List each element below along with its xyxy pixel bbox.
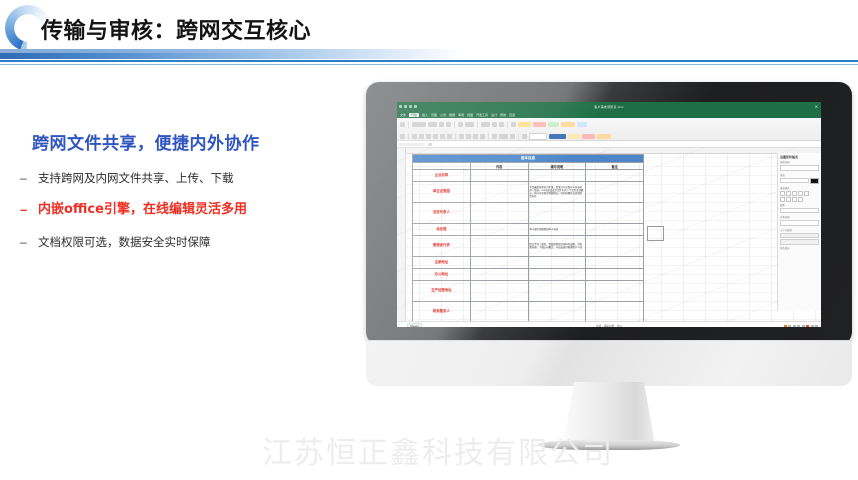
- row-instruction: [528, 257, 586, 269]
- pane-footer-label: 纯色填充: [780, 246, 819, 250]
- row-instruction: [528, 203, 586, 224]
- option-checkbox[interactable]: [798, 191, 803, 196]
- fullscreen-icon[interactable]: [815, 325, 818, 328]
- list-item: – 文档权限可选，数据安全实时保障: [20, 234, 350, 250]
- list-item-label: 支持跨网及内网文件共享、上传、下载: [38, 170, 234, 186]
- row-input[interactable]: [470, 182, 528, 203]
- table-row: 内容 填写说明 备注: [413, 163, 644, 170]
- row-input[interactable]: [470, 203, 528, 224]
- italic-icon[interactable]: [419, 134, 424, 139]
- pane-input[interactable]: [780, 165, 819, 171]
- option-checkbox[interactable]: [786, 191, 791, 196]
- function-icon[interactable]: [428, 143, 432, 146]
- conditional-format-icon[interactable]: [511, 122, 516, 127]
- row-label: 注册地址: [413, 257, 471, 269]
- pane-input[interactable]: [780, 220, 819, 226]
- cell-style-swatch[interactable]: [597, 134, 611, 139]
- row-label: 管理者代表: [413, 236, 471, 257]
- zoom-in-icon[interactable]: [806, 325, 809, 328]
- document-filename: 客户需求调研表.xlsx: [397, 105, 821, 109]
- row-input[interactable]: [470, 170, 528, 182]
- row-input[interactable]: [470, 302, 528, 323]
- cell-style-swatch[interactable]: [533, 122, 546, 127]
- ribbon-tabs: 文件 开始 插入 页面 公式 数据 审阅 视图 开发工具 设计 帮助 百度: [397, 111, 821, 118]
- list-item-label: 文档权限可选，数据安全实时保障: [38, 234, 211, 250]
- pane-section-line[interactable]: 线条: [780, 203, 819, 207]
- option-checkbox[interactable]: [780, 197, 785, 202]
- row-remark: [586, 281, 644, 302]
- pane-section-text[interactable]: 文本选项: [780, 215, 819, 219]
- currency-icon[interactable]: [499, 134, 508, 139]
- row-instruction: 提交不含上要的，需要提供相关材料有效期，对需要办理，下载公司重点，可由安装好管理…: [528, 236, 586, 257]
- pane-section-fill[interactable]: 填充: [780, 173, 819, 177]
- header-divider-line-secondary: [0, 64, 858, 65]
- row-label: 办公地址: [413, 269, 471, 281]
- tab-help[interactable]: 帮助: [500, 113, 506, 117]
- ribbon-toolbar: [397, 118, 821, 141]
- col-remark: 备注: [586, 163, 644, 170]
- divider: [408, 133, 409, 140]
- tab-view[interactable]: 视图: [467, 113, 473, 117]
- row-instruction: [528, 170, 586, 182]
- option-checkbox[interactable]: [804, 191, 809, 196]
- row-input[interactable]: [470, 236, 528, 257]
- company-watermark: 江苏恒正鑫科技有限公司: [262, 428, 614, 472]
- percent-icon[interactable]: [492, 122, 497, 127]
- number-format-box[interactable]: [481, 122, 490, 127]
- format-shape-pane[interactable]: 设置形状格式 形状选项 填充 填充颜色: [777, 153, 821, 311]
- page-title: 传输与审核：跨网交互核心: [41, 13, 311, 45]
- row-label: 企业名称: [413, 170, 471, 182]
- divider: [518, 133, 519, 140]
- wrap-text-icon[interactable]: [458, 122, 463, 127]
- clipboard-icon[interactable]: [400, 134, 405, 139]
- zoom-level-label[interactable]: [811, 325, 814, 328]
- format-table-icon[interactable]: [522, 134, 527, 139]
- spreadsheet-body[interactable]: 基本信息 内容 填写说明 备注 企业名称 单: [397, 148, 821, 321]
- cell-style-swatch[interactable]: [548, 122, 559, 127]
- decrease-font-icon[interactable]: [446, 122, 451, 127]
- pane-section-size[interactable]: 大小与属性: [780, 228, 819, 232]
- row-remark: [586, 224, 644, 236]
- row-remark: [586, 170, 644, 182]
- tab-baidu[interactable]: 百度: [509, 113, 515, 117]
- row-remark: [586, 182, 644, 203]
- orientation-icon[interactable]: [492, 134, 497, 139]
- formula-bar[interactable]: [397, 141, 821, 148]
- divider: [455, 133, 456, 140]
- pane-title: 设置形状格式: [780, 155, 819, 159]
- col-content: 内容: [470, 163, 528, 170]
- status-bar: Sheet1 就绪 辅助功能：良好: [397, 321, 821, 327]
- option-row[interactable]: [780, 197, 819, 202]
- underline-icon[interactable]: [426, 134, 431, 139]
- page-layout-icon[interactable]: [788, 325, 791, 328]
- header-gradient-bar: [0, 49, 462, 59]
- row-remark: [586, 203, 644, 224]
- divider: [477, 121, 478, 128]
- divider: [507, 121, 508, 128]
- option-row[interactable]: [780, 191, 819, 196]
- row-instruction: 本人填写需要提供本人电话: [528, 224, 586, 236]
- comma-icon[interactable]: [499, 122, 504, 127]
- zoom-slider[interactable]: [802, 325, 805, 328]
- bold-icon[interactable]: [412, 134, 417, 139]
- feature-bullet-list: – 支持跨网及内网文件共享、上传、下载 – 内嵌office引擎，在线编辑灵活多…: [20, 170, 350, 266]
- cell-style-swatch[interactable]: [568, 134, 580, 139]
- merge-cells-icon[interactable]: [465, 122, 474, 127]
- row-instruction: [528, 269, 586, 281]
- fill-color-icon[interactable]: [440, 134, 445, 139]
- status-text: 就绪 辅助功能：良好: [397, 324, 821, 327]
- option-checkbox[interactable]: [792, 191, 797, 196]
- tab-file[interactable]: 文件: [400, 113, 406, 117]
- option-checkbox[interactable]: [786, 197, 791, 202]
- paste-icon[interactable]: [400, 122, 405, 127]
- bullet-dash-icon: –: [20, 202, 38, 218]
- list-item: – 支持跨网及内网文件共享、上传、下载: [20, 170, 350, 186]
- option-checkbox[interactable]: [780, 191, 785, 196]
- pane-input[interactable]: [780, 208, 819, 214]
- page-break-icon[interactable]: [793, 325, 796, 328]
- solid-fill-button[interactable]: [780, 239, 819, 245]
- col-empty: [413, 163, 471, 170]
- zoom-out-icon[interactable]: [797, 325, 800, 328]
- desktop-monitor: 客户需求调研表.xlsx ✕ 文件 开始 插入 页面 公式 数据 审阅 视图 开…: [366, 82, 852, 417]
- table-row: 注册地址: [413, 257, 644, 269]
- table-row: 联系服务人: [413, 302, 644, 323]
- tab-data[interactable]: 数据: [449, 113, 455, 117]
- normal-view-icon[interactable]: [784, 325, 787, 328]
- border-icon[interactable]: [433, 134, 438, 139]
- cell-style-swatch[interactable]: [549, 134, 566, 139]
- survey-form-table[interactable]: 基本信息 内容 填写说明 备注 企业名称 单: [412, 154, 644, 327]
- row-input[interactable]: [470, 257, 528, 269]
- row-instruction: 不是最新版本的可不填，需要什么证照什么内容的用一级章，xxx全部由此次文件中的一…: [528, 182, 586, 203]
- monitor-screen: 客户需求调研表.xlsx ✕ 文件 开始 插入 页面 公式 数据 审阅 视图 开…: [397, 102, 821, 327]
- divider: [488, 133, 489, 140]
- align-center-icon[interactable]: [466, 134, 471, 139]
- header-divider-line: [0, 60, 858, 62]
- increase-font-icon[interactable]: [439, 122, 444, 127]
- option-checkbox[interactable]: [798, 197, 803, 202]
- row-instruction: [528, 281, 586, 302]
- slide-root: 传输与审核：跨网交互核心 跨网文件共享，便捷内外协作 – 支持跨网及内网文件共享…: [0, 0, 858, 480]
- indent-icon[interactable]: [480, 134, 485, 139]
- row-input[interactable]: [470, 281, 528, 302]
- tab-page-layout[interactable]: 页面: [431, 113, 437, 117]
- align-left-icon[interactable]: [459, 134, 464, 139]
- font-color-icon[interactable]: [447, 134, 452, 139]
- tab-home[interactable]: 开始: [409, 113, 419, 117]
- row-remark: [586, 257, 644, 269]
- table-row: 总经理 本人填写需要提供本人电话: [413, 224, 644, 236]
- tab-design[interactable]: 设计: [491, 113, 497, 117]
- bullet-dash-icon: –: [20, 234, 38, 250]
- close-icon[interactable]: ✕: [815, 105, 818, 109]
- font-name-box[interactable]: [412, 122, 426, 127]
- row-label: 法定代表人: [413, 203, 471, 224]
- row-instruction: [528, 302, 586, 323]
- status-icons[interactable]: [784, 325, 819, 328]
- monitor-chin: [366, 340, 852, 386]
- table-row: 办公地址: [413, 269, 644, 281]
- cell-style-swatch[interactable]: [529, 133, 547, 140]
- row-label: 生产经营地址: [413, 281, 471, 302]
- tab-formulas[interactable]: 公式: [440, 113, 446, 117]
- divider: [408, 121, 409, 128]
- app-titlebar: 客户需求调研表.xlsx ✕: [397, 102, 821, 111]
- bullet-dash-icon: –: [20, 170, 38, 186]
- no-fill-button[interactable]: [780, 233, 819, 239]
- list-item-label: 内嵌office引擎，在线编辑灵活多用: [38, 202, 247, 218]
- cell-style-swatch[interactable]: [518, 122, 531, 127]
- table-row: 管理者代表 提交不含上要的，需要提供相关材料有效期，对需要办理，下载公司重点，可…: [413, 236, 644, 257]
- table-row: 企业名称: [413, 170, 644, 182]
- selected-cell[interactable]: [647, 226, 664, 241]
- fill-dropdown[interactable]: [780, 178, 809, 184]
- table-row: 单位证照图 不是最新版本的可不填，需要什么证照什么内容的用一级章，xxx全部由此…: [413, 182, 644, 203]
- row-label: 联系服务人: [413, 302, 471, 323]
- pane-label-transparency: 填充颜色: [780, 186, 819, 190]
- row-input[interactable]: [470, 224, 528, 236]
- pane-section-shape[interactable]: 形状选项: [780, 160, 819, 164]
- section-subheading: 跨网文件共享，便捷内外协作: [32, 129, 260, 154]
- color-swatch[interactable]: [810, 178, 819, 184]
- ribbon-row-bottom: [397, 130, 821, 141]
- row-label: 总经理: [413, 224, 471, 236]
- cell-style-swatch[interactable]: [582, 134, 595, 139]
- form-band-title: 基本信息: [413, 155, 644, 163]
- row-remark: [586, 302, 644, 323]
- align-right-icon[interactable]: [473, 134, 478, 139]
- tab-review[interactable]: 审阅: [458, 113, 464, 117]
- ribbon-row-top: [397, 118, 821, 130]
- row-headers[interactable]: [397, 148, 406, 321]
- row-remark: [586, 269, 644, 281]
- cell-style-swatch[interactable]: [561, 122, 575, 127]
- list-item: – 内嵌office引擎，在线编辑灵活多用: [20, 202, 350, 218]
- cell-style-swatch[interactable]: [577, 122, 587, 127]
- col-instructions: 填写说明: [528, 163, 586, 170]
- fill-color-row[interactable]: [780, 178, 819, 184]
- tab-developer[interactable]: 开发工具: [476, 113, 488, 117]
- row-input[interactable]: [470, 269, 528, 281]
- table-row: 基本信息: [413, 155, 644, 163]
- divider: [454, 121, 455, 128]
- option-checkbox[interactable]: [792, 197, 797, 202]
- tab-insert[interactable]: 插入: [422, 113, 428, 117]
- decimal-icon[interactable]: [510, 134, 515, 139]
- row-label: 单位证照图: [413, 182, 471, 203]
- name-box[interactable]: [399, 143, 425, 146]
- table-row: 生产经营地址: [413, 281, 644, 302]
- font-size-box[interactable]: [428, 122, 437, 127]
- row-remark: [586, 236, 644, 257]
- table-row: 法定代表人: [413, 203, 644, 224]
